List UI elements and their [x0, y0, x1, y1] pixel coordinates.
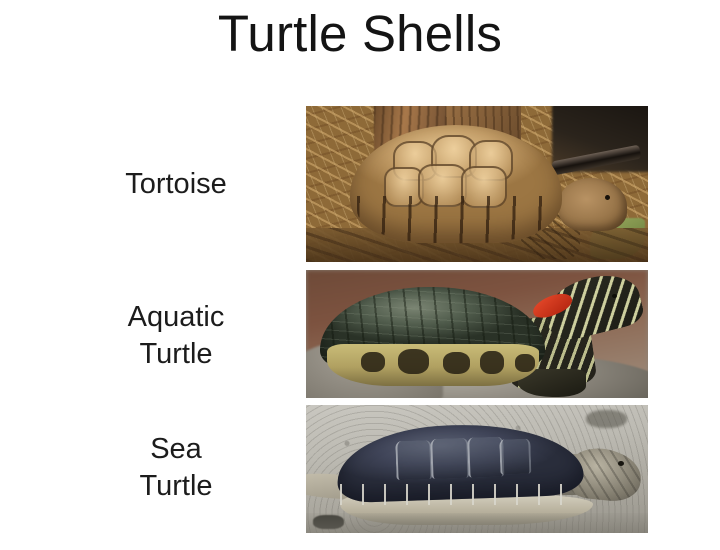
sea-turtle-photo — [306, 405, 648, 533]
aquatic-plastron-blotch — [515, 354, 536, 372]
aquatic-plastron-blotch — [443, 352, 470, 374]
aquatic-turtle-photo-content — [306, 270, 648, 398]
row-label-sea-turtle-line-1: Sea — [60, 431, 292, 468]
tortoise-photo-content — [306, 106, 648, 262]
page-title: Turtle Shells — [0, 4, 720, 64]
sea-turtle-photo-content — [306, 405, 648, 533]
sea-turtle-scute — [395, 441, 432, 481]
sea-sand-shadow — [586, 410, 627, 428]
aquatic-plastron-blotch — [398, 349, 429, 373]
row-label-aquatic-turtle: Aquatic Turtle — [60, 299, 292, 373]
sea-turtle-scute — [498, 439, 530, 476]
sea-turtle-scute — [429, 438, 469, 480]
sea-turtle-shell-rim — [340, 484, 566, 504]
slide-canvas: Turtle Shells Tortoise — [0, 0, 720, 550]
row-label-sea-turtle: Sea Turtle — [60, 431, 292, 505]
aquatic-turtle-plastron — [327, 344, 539, 386]
aquatic-plastron-blotch — [361, 352, 385, 372]
row-label-sea-turtle-line-2: Turtle — [60, 468, 292, 505]
aquatic-plastron-blotch — [480, 351, 504, 374]
row-label-aquatic-turtle-line-1: Aquatic — [60, 299, 292, 336]
tortoise-photo — [306, 106, 648, 262]
row-label-tortoise: Tortoise — [60, 166, 292, 203]
row-label-aquatic-turtle-line-2: Turtle — [60, 336, 292, 373]
sea-foreground-shade — [306, 513, 648, 533]
aquatic-turtle-photo — [306, 270, 648, 398]
sea-turtle-scute — [466, 437, 503, 478]
row-label-tortoise-line-1: Tortoise — [60, 166, 292, 203]
